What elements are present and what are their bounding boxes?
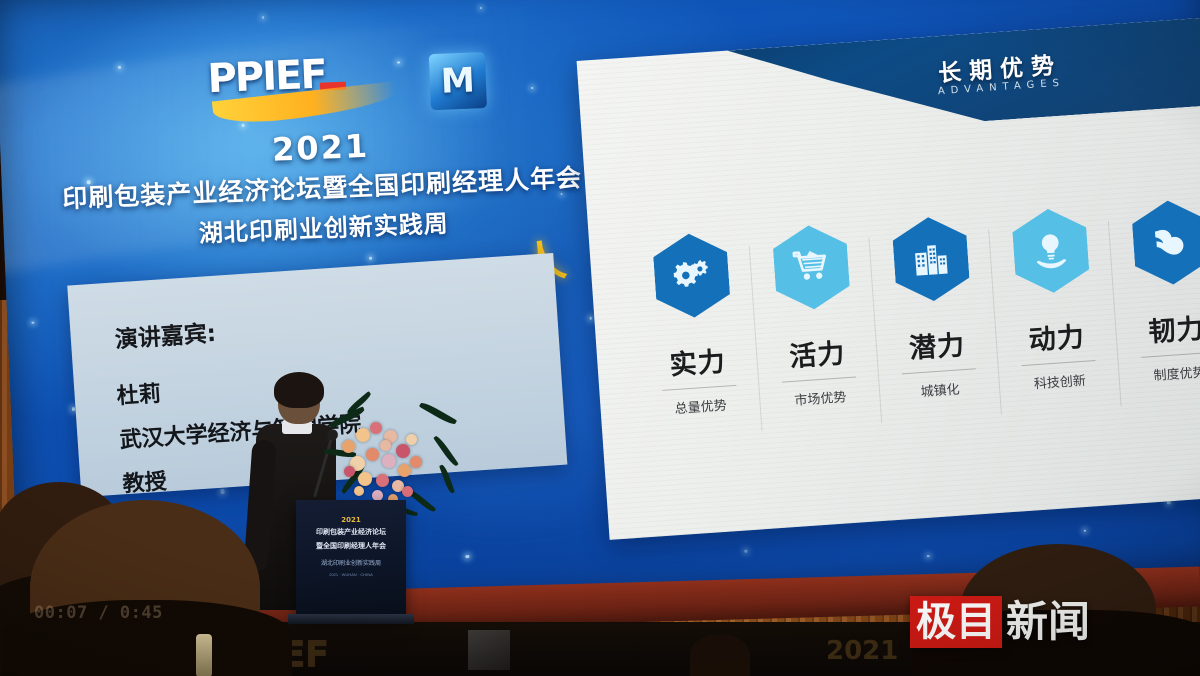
flower-blossom: [366, 448, 379, 461]
podium-year: 2021: [310, 516, 392, 524]
advantage-card-title: 韧力: [1115, 304, 1200, 351]
advantage-card: 动力科技创新: [988, 205, 1123, 433]
podium-line-4: 2021 · WUHAN · CHINA: [310, 572, 392, 577]
cart-icon: [772, 223, 852, 312]
advantage-card-divider: [662, 385, 736, 391]
bulb-hand-icon: [1011, 206, 1091, 295]
flower-blossom: [376, 474, 389, 487]
flower-blossom: [380, 440, 391, 451]
advantage-card-list: 实力总量优势活力市场优势潜力城镇化动力科技创新韧力制度优势: [629, 197, 1200, 458]
podium-line-1: 印刷包装产业经济论坛: [310, 528, 392, 538]
advantage-card: 活力市场优势: [749, 221, 884, 449]
advantage-card-title: 潜力: [876, 321, 998, 368]
speaker-name: 杜莉: [116, 376, 162, 411]
m-logo-letter: M: [440, 60, 475, 101]
presenter-hair: [274, 372, 324, 408]
flower-blossom: [358, 472, 372, 486]
news-watermark: 极目 新闻: [910, 594, 1090, 650]
conference-photo: PPIEF M 2021 印刷包装产业经济论坛暨全国印刷经理人年会 湖北印刷业创…: [0, 0, 1200, 676]
advantage-card-subtitle: 市场优势: [760, 384, 881, 411]
advantage-card-title: 活力: [756, 329, 878, 376]
podium-base: [288, 614, 414, 624]
advantage-card-title: 实力: [636, 337, 758, 384]
podium-line-3: 湖北印刷业创新实践周: [310, 558, 392, 567]
flower-blossom: [356, 428, 370, 442]
flower-blossom: [344, 466, 355, 477]
advantage-card-title: 动力: [995, 313, 1117, 360]
flower-blossom: [354, 486, 364, 496]
podium: 2021 印刷包装产业经济论坛 暨全国印刷经理人年会 湖北印刷业创新实践周 20…: [296, 500, 406, 618]
advantage-card: 韧力制度优势: [1108, 197, 1200, 425]
flower-blossom: [382, 454, 396, 468]
podium-line-2: 暨全国印刷经理人年会: [310, 542, 392, 552]
advantage-card-subtitle: 科技创新: [999, 367, 1120, 394]
flower-blossom: [406, 434, 417, 445]
speaker-title: 教授: [122, 463, 168, 498]
advantage-card-divider: [782, 377, 856, 383]
advantage-card-subtitle: 制度优势: [1119, 359, 1200, 386]
advantage-card: 潜力城镇化: [868, 213, 1003, 441]
flower-blossom: [398, 464, 411, 477]
ppief-logo: PPIEF: [207, 49, 409, 119]
watermark-red-text: 极目: [910, 596, 1002, 648]
audience-head-center: [690, 634, 750, 676]
event-title-block: PPIEF M 2021 印刷包装产业经济论坛暨全国印刷经理人年会 湖北印刷业创…: [56, 30, 584, 254]
flower-blossom: [342, 440, 355, 453]
flower-blossom: [370, 422, 382, 434]
presentation-slide: 长期优势 ADVANTAGES 实力总量优势活力市场优势潜力城镇化动力科技创新韧…: [577, 18, 1200, 540]
advantage-card-subtitle: 总量优势: [640, 392, 761, 419]
speaker-label: 演讲嘉宾:: [114, 314, 217, 355]
advantage-card-divider: [1141, 352, 1200, 358]
advantage-card-subtitle: 城镇化: [880, 376, 1001, 403]
watermark-white-text: 新闻: [1006, 598, 1090, 646]
flower-blossom: [410, 456, 422, 468]
video-timestamp: 00:07 / 0:45: [34, 603, 163, 623]
water-bottle: [196, 634, 212, 676]
advantage-card: 实力总量优势: [629, 230, 764, 458]
flower-blossom: [396, 444, 410, 458]
buildings-icon: [891, 215, 971, 304]
flower-blossom: [402, 486, 413, 497]
advantage-card-divider: [1022, 360, 1096, 366]
podium-sign: 2021 印刷包装产业经济论坛 暨全国印刷经理人年会 湖北印刷业创新实践周 20…: [310, 516, 392, 577]
muscle-icon: [1131, 198, 1200, 287]
gears-icon: [652, 231, 732, 320]
stage-front-year: 2021: [826, 636, 898, 666]
m-logo: M: [429, 52, 487, 110]
advantage-card-divider: [902, 368, 976, 374]
stage-front-m-logo: [468, 630, 510, 670]
